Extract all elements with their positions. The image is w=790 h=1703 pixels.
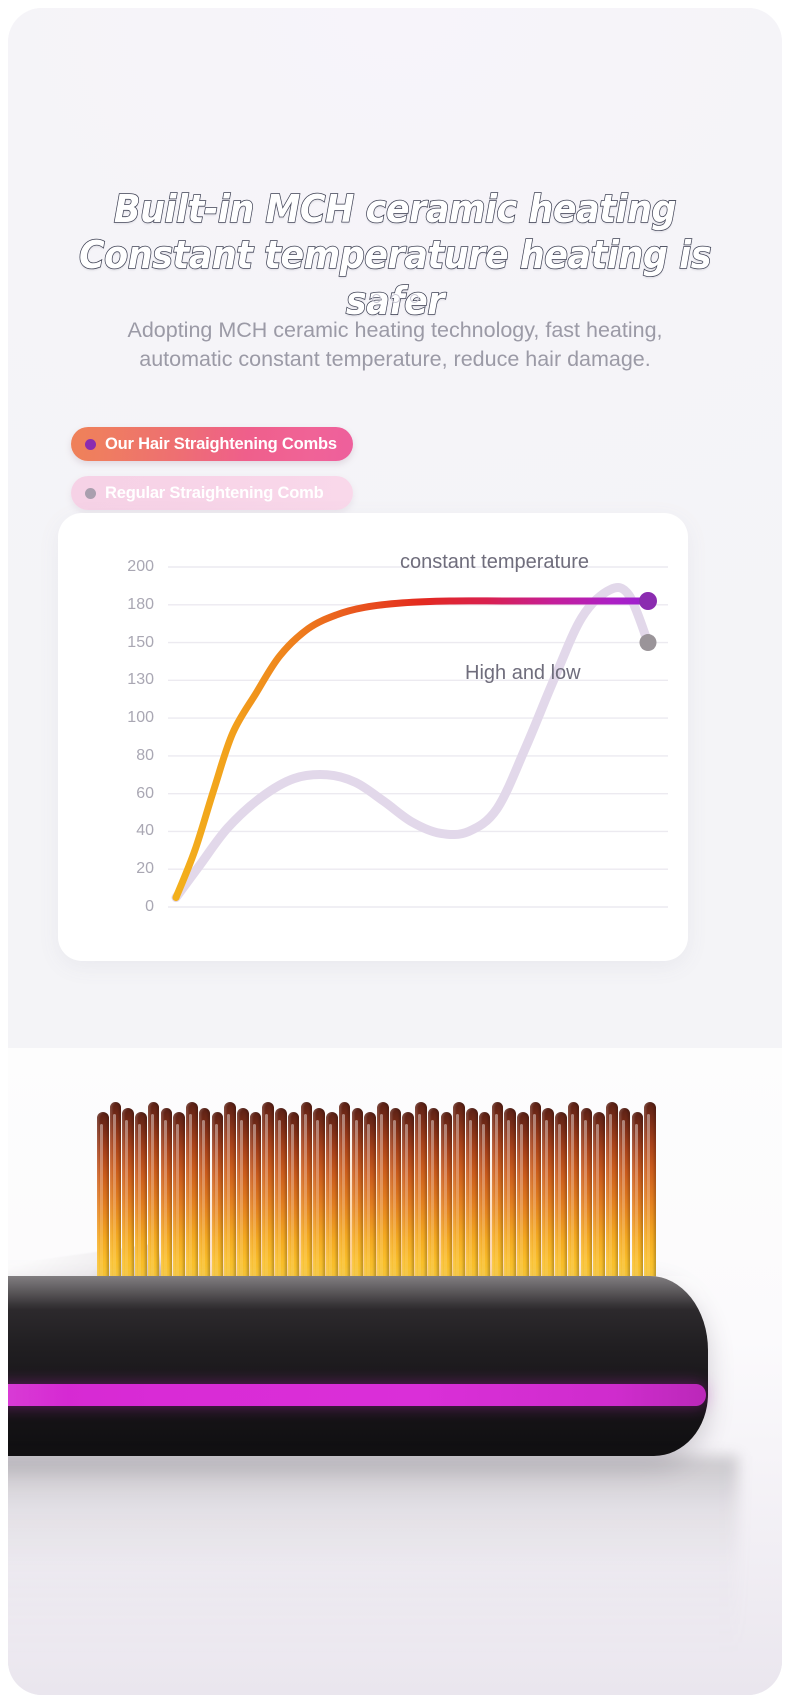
y-tick-label: 80 [58, 747, 168, 765]
y-axis-labels: 200180150130100806040200 [58, 513, 168, 961]
annotation-constant-temperature: constant temperature [400, 551, 589, 574]
dot-2-icon [391, 294, 400, 303]
product-stripe-highlight [8, 1384, 68, 1406]
product-reflection [8, 1456, 738, 1656]
subtitle: Adopting MCH ceramic heating technology,… [8, 316, 782, 374]
y-tick-label: 20 [58, 860, 168, 878]
legend-label-primary: Our Hair Straightening Combs [105, 435, 337, 454]
legend-item-our-comb[interactable]: Our Hair Straightening Combs [71, 427, 353, 461]
legend-dot-icon-secondary [85, 488, 96, 499]
chart: 200180150130100806040200 [58, 513, 688, 961]
product-magenta-stripe [8, 1384, 706, 1406]
y-tick-label: 0 [58, 898, 168, 916]
dot-3-icon [410, 294, 419, 303]
y-tick-label: 130 [58, 671, 168, 689]
y-tick-label: 40 [58, 822, 168, 840]
y-tick-label: 60 [58, 785, 168, 803]
plot-area [168, 513, 674, 961]
y-tick-label: 200 [58, 558, 168, 576]
product-image [8, 1048, 782, 1695]
series-line-ours [176, 601, 648, 898]
y-tick-label: 150 [58, 634, 168, 652]
subtitle-line-2: automatic constant temperature, reduce h… [8, 345, 782, 374]
chart-legend: Our Hair Straightening Combs Regular Str… [71, 427, 353, 510]
headline-line-1: Built-in MCH ceramic heating [114, 187, 676, 231]
chart-card: 200180150130100806040200 [58, 513, 688, 961]
series-endpoint-regular [640, 634, 657, 651]
subtitle-line-1: Adopting MCH ceramic heating technology,… [8, 316, 782, 345]
series-endpoint-ours [639, 592, 657, 610]
legend-item-regular-comb[interactable]: Regular Straightening Comb [71, 476, 353, 510]
headline-line-2: Constant temperature heating is safer [39, 232, 751, 324]
page-root: Built-in MCH ceramic heating Constant te… [0, 0, 790, 1703]
series-line-regular [176, 588, 648, 898]
divider-dots [8, 290, 782, 306]
y-tick-label: 100 [58, 709, 168, 727]
y-tick-label: 180 [58, 596, 168, 614]
annotation-high-and-low: High and low [465, 662, 581, 685]
legend-dot-icon-primary [85, 439, 96, 450]
chart-svg [168, 513, 674, 961]
dot-1-icon [372, 294, 381, 303]
promo-panel: Built-in MCH ceramic heating Constant te… [8, 8, 782, 1695]
product-body-sheen [8, 1276, 708, 1310]
legend-label-secondary: Regular Straightening Comb [105, 484, 323, 503]
